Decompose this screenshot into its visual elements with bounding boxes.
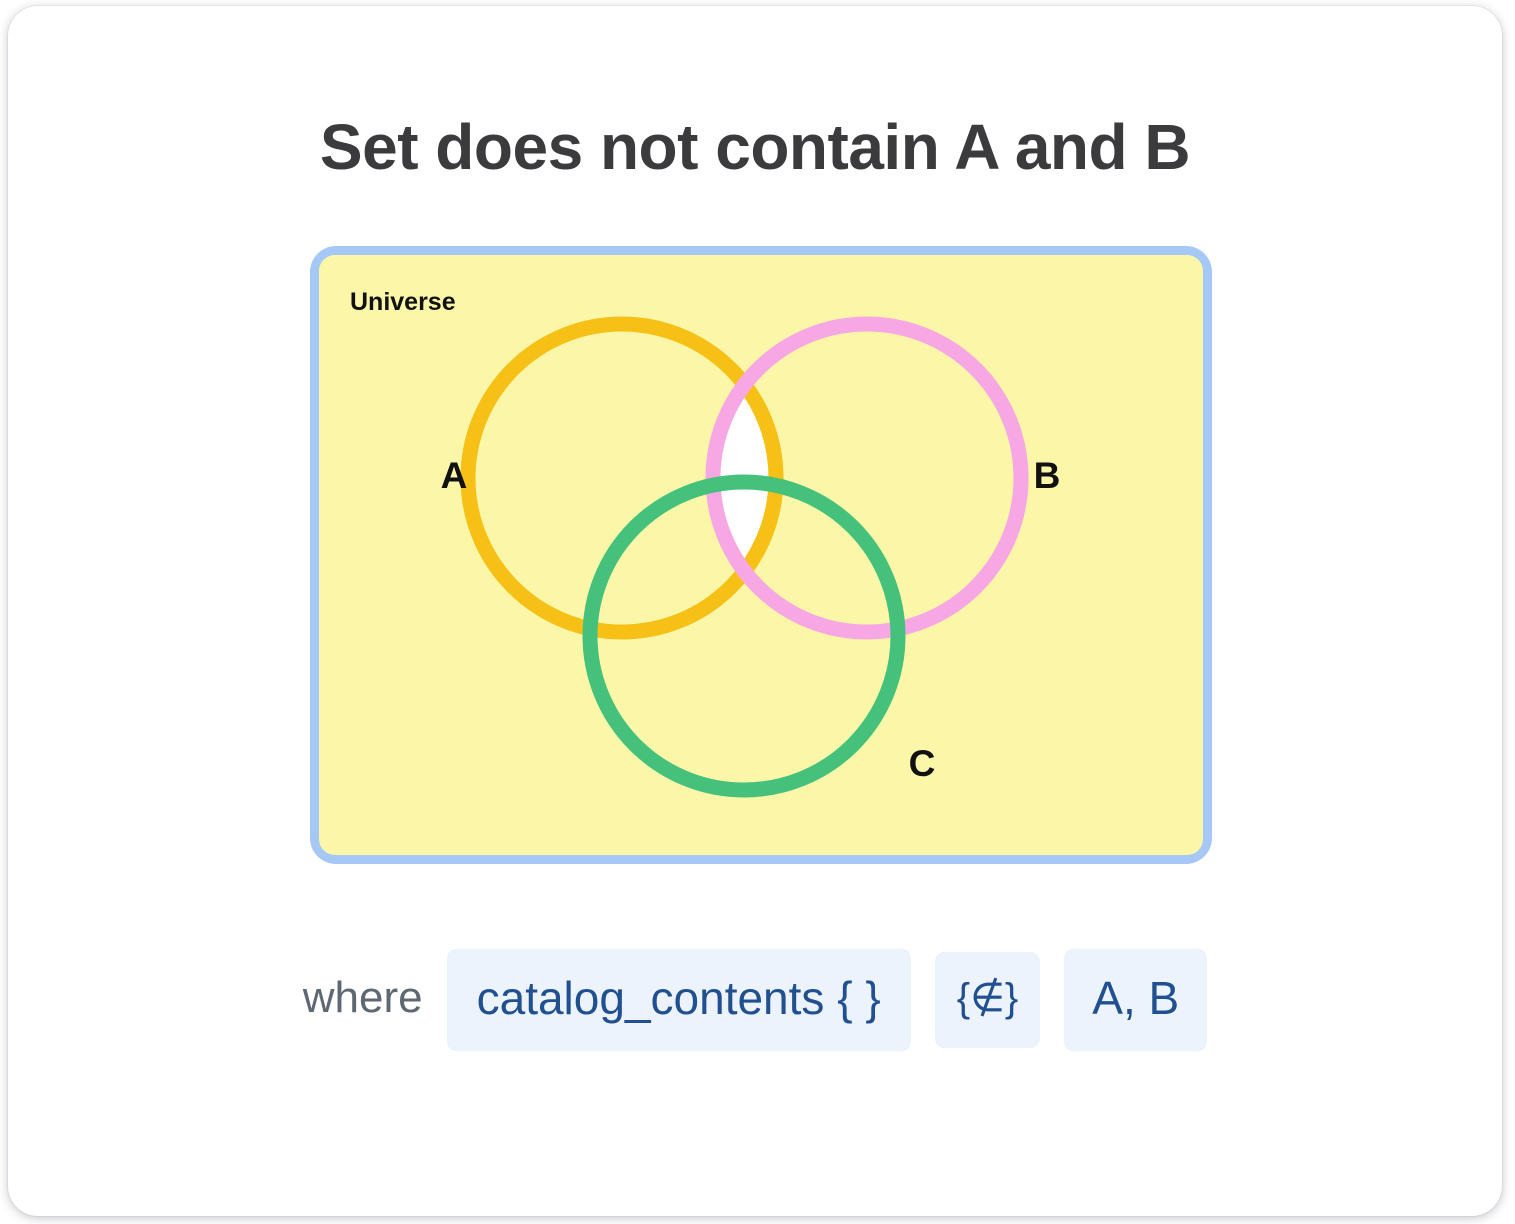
- venn-diagram-svg: Universe A B C: [302, 238, 1220, 872]
- formula-row: where catalog_contents { } {∉} A, B: [8, 949, 1502, 1051]
- where-label: where: [303, 976, 423, 1024]
- venn-diagram: Universe A B C: [302, 238, 1220, 872]
- set-label-a: A: [441, 455, 468, 496]
- screenshot-root: Set does not contain A and B: [0, 0, 1515, 1224]
- set-label-b: B: [1034, 455, 1061, 496]
- field-chip[interactable]: catalog_contents { }: [447, 949, 911, 1051]
- operator-chip[interactable]: {∉}: [935, 952, 1041, 1048]
- content-card: Set does not contain A and B: [8, 6, 1502, 1216]
- universe-label: Universe: [350, 288, 456, 316]
- set-label-c: C: [909, 743, 936, 784]
- values-chip[interactable]: A, B: [1064, 949, 1207, 1051]
- page-title: Set does not contain A and B: [8, 110, 1502, 184]
